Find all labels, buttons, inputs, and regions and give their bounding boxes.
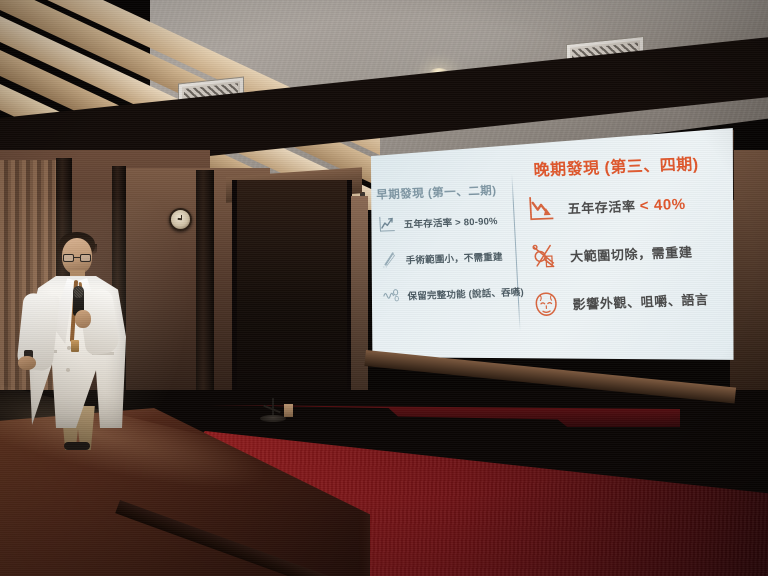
glasses-lens [80,254,91,262]
early-stage-item: 五年存活率 > 80-90% [377,210,506,234]
column-late-stage: 晚期發現 (第三、四期) 五年存活率 < 40% [511,147,733,383]
mic-stand-pole [272,398,274,416]
late-stage-item-text: 大範圍切除，需重建 [570,241,693,265]
lecture-hall-scene: 早期發現 (第一、二期) 五年存活率 > 80-90% [0,0,768,576]
wall-strip [351,196,368,396]
floor-box [284,404,293,417]
lab-coat-button [67,346,71,350]
trending-up-icon [377,214,397,234]
speech-wave-icon [381,286,401,306]
lab-coat-button [66,368,70,372]
trending-down-icon [527,194,556,223]
mic-stand-base [260,415,286,422]
surgical-tools-icon [529,242,558,271]
presenter-shoe [64,442,90,450]
early-stage-item: 手術範圍小，不需重建 [379,246,508,270]
glasses-icon [63,254,91,262]
glasses-lens [63,254,74,262]
late-stage-item-text: 影響外觀、咀嚼、語言 [572,289,709,313]
presenter [18,228,136,446]
column-early-stage: 早期發現 (第一、二期) 五年存活率 > 80-90% [370,155,522,388]
late-stage-heading: 晚期發現 (第三、四期) [533,150,719,181]
wall-pillar [196,170,214,420]
id-badge [71,340,79,352]
projection-screen[interactable]: 早期發現 (第一、二期) 五年存活率 > 80-90% [368,128,735,396]
survival-rate-highlight: < 40% [639,195,686,214]
presenter-hand [18,356,36,370]
early-stage-heading: 早期發現 (第一、二期) [376,182,505,203]
slide-content: 早期發現 (第一、二期) 五年存活率 > 80-90% [361,121,742,403]
late-stage-item: 五年存活率 < 40% [527,188,721,223]
late-stage-item: 影響外觀、咀嚼、語言 [532,283,726,318]
face-head-icon [532,290,561,319]
scalpel-icon [379,250,399,270]
early-stage-item-text: 手術範圍小，不需重建 [405,248,503,266]
early-stage-item-text: 保留完整功能 (說話、吞嚥) [407,284,524,302]
late-stage-item: 大範圍切除，需重建 [529,235,723,270]
late-stage-item-text: 五年存活率 < 40% [567,193,686,217]
wall-clock [169,208,192,231]
early-stage-item-text: 五年存活率 > 80-90% [403,213,498,231]
right-wall-panel [730,150,768,400]
presenter-hand [75,310,91,328]
early-stage-item: 保留完整功能 (說話、吞嚥) [381,282,510,306]
